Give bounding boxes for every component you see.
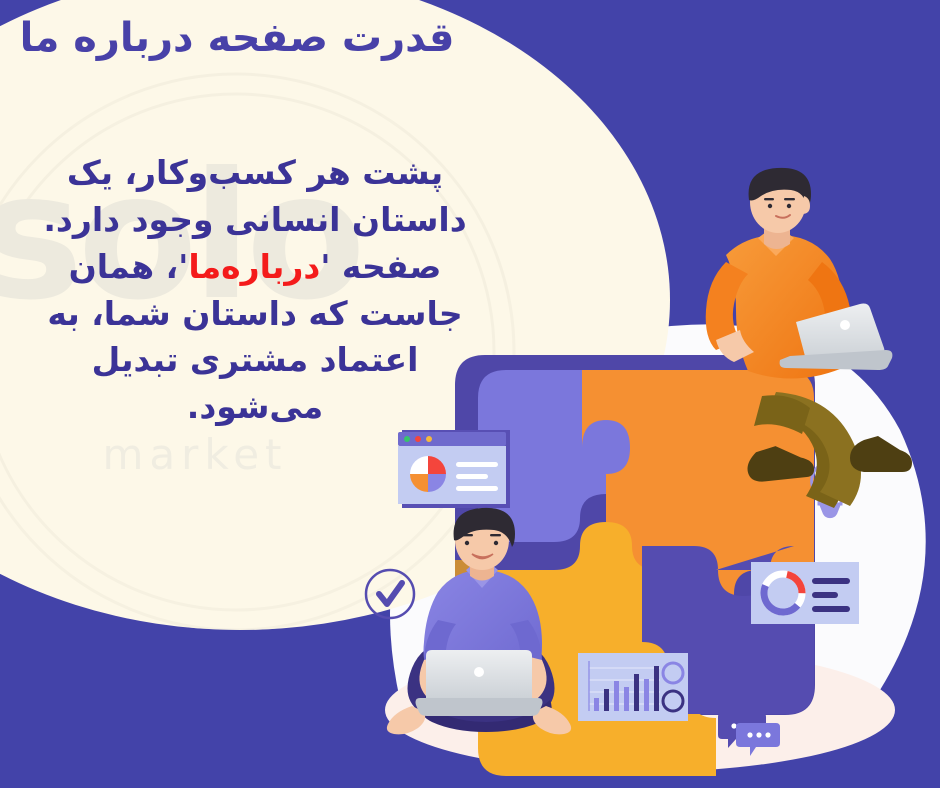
browser-dot-red	[415, 436, 421, 442]
bar-chart-card	[578, 653, 688, 721]
laptop	[416, 650, 543, 716]
browser-pie-card	[398, 430, 510, 508]
browser-dot-green	[404, 436, 410, 442]
donut-card	[751, 562, 859, 624]
poster-canvas: solo market قدرت صفحه درباره ما پشت هر ک…	[0, 0, 940, 788]
browser-dot-yellow	[426, 436, 432, 442]
illustration-canvas	[0, 0, 940, 788]
pie-chart	[410, 456, 446, 492]
